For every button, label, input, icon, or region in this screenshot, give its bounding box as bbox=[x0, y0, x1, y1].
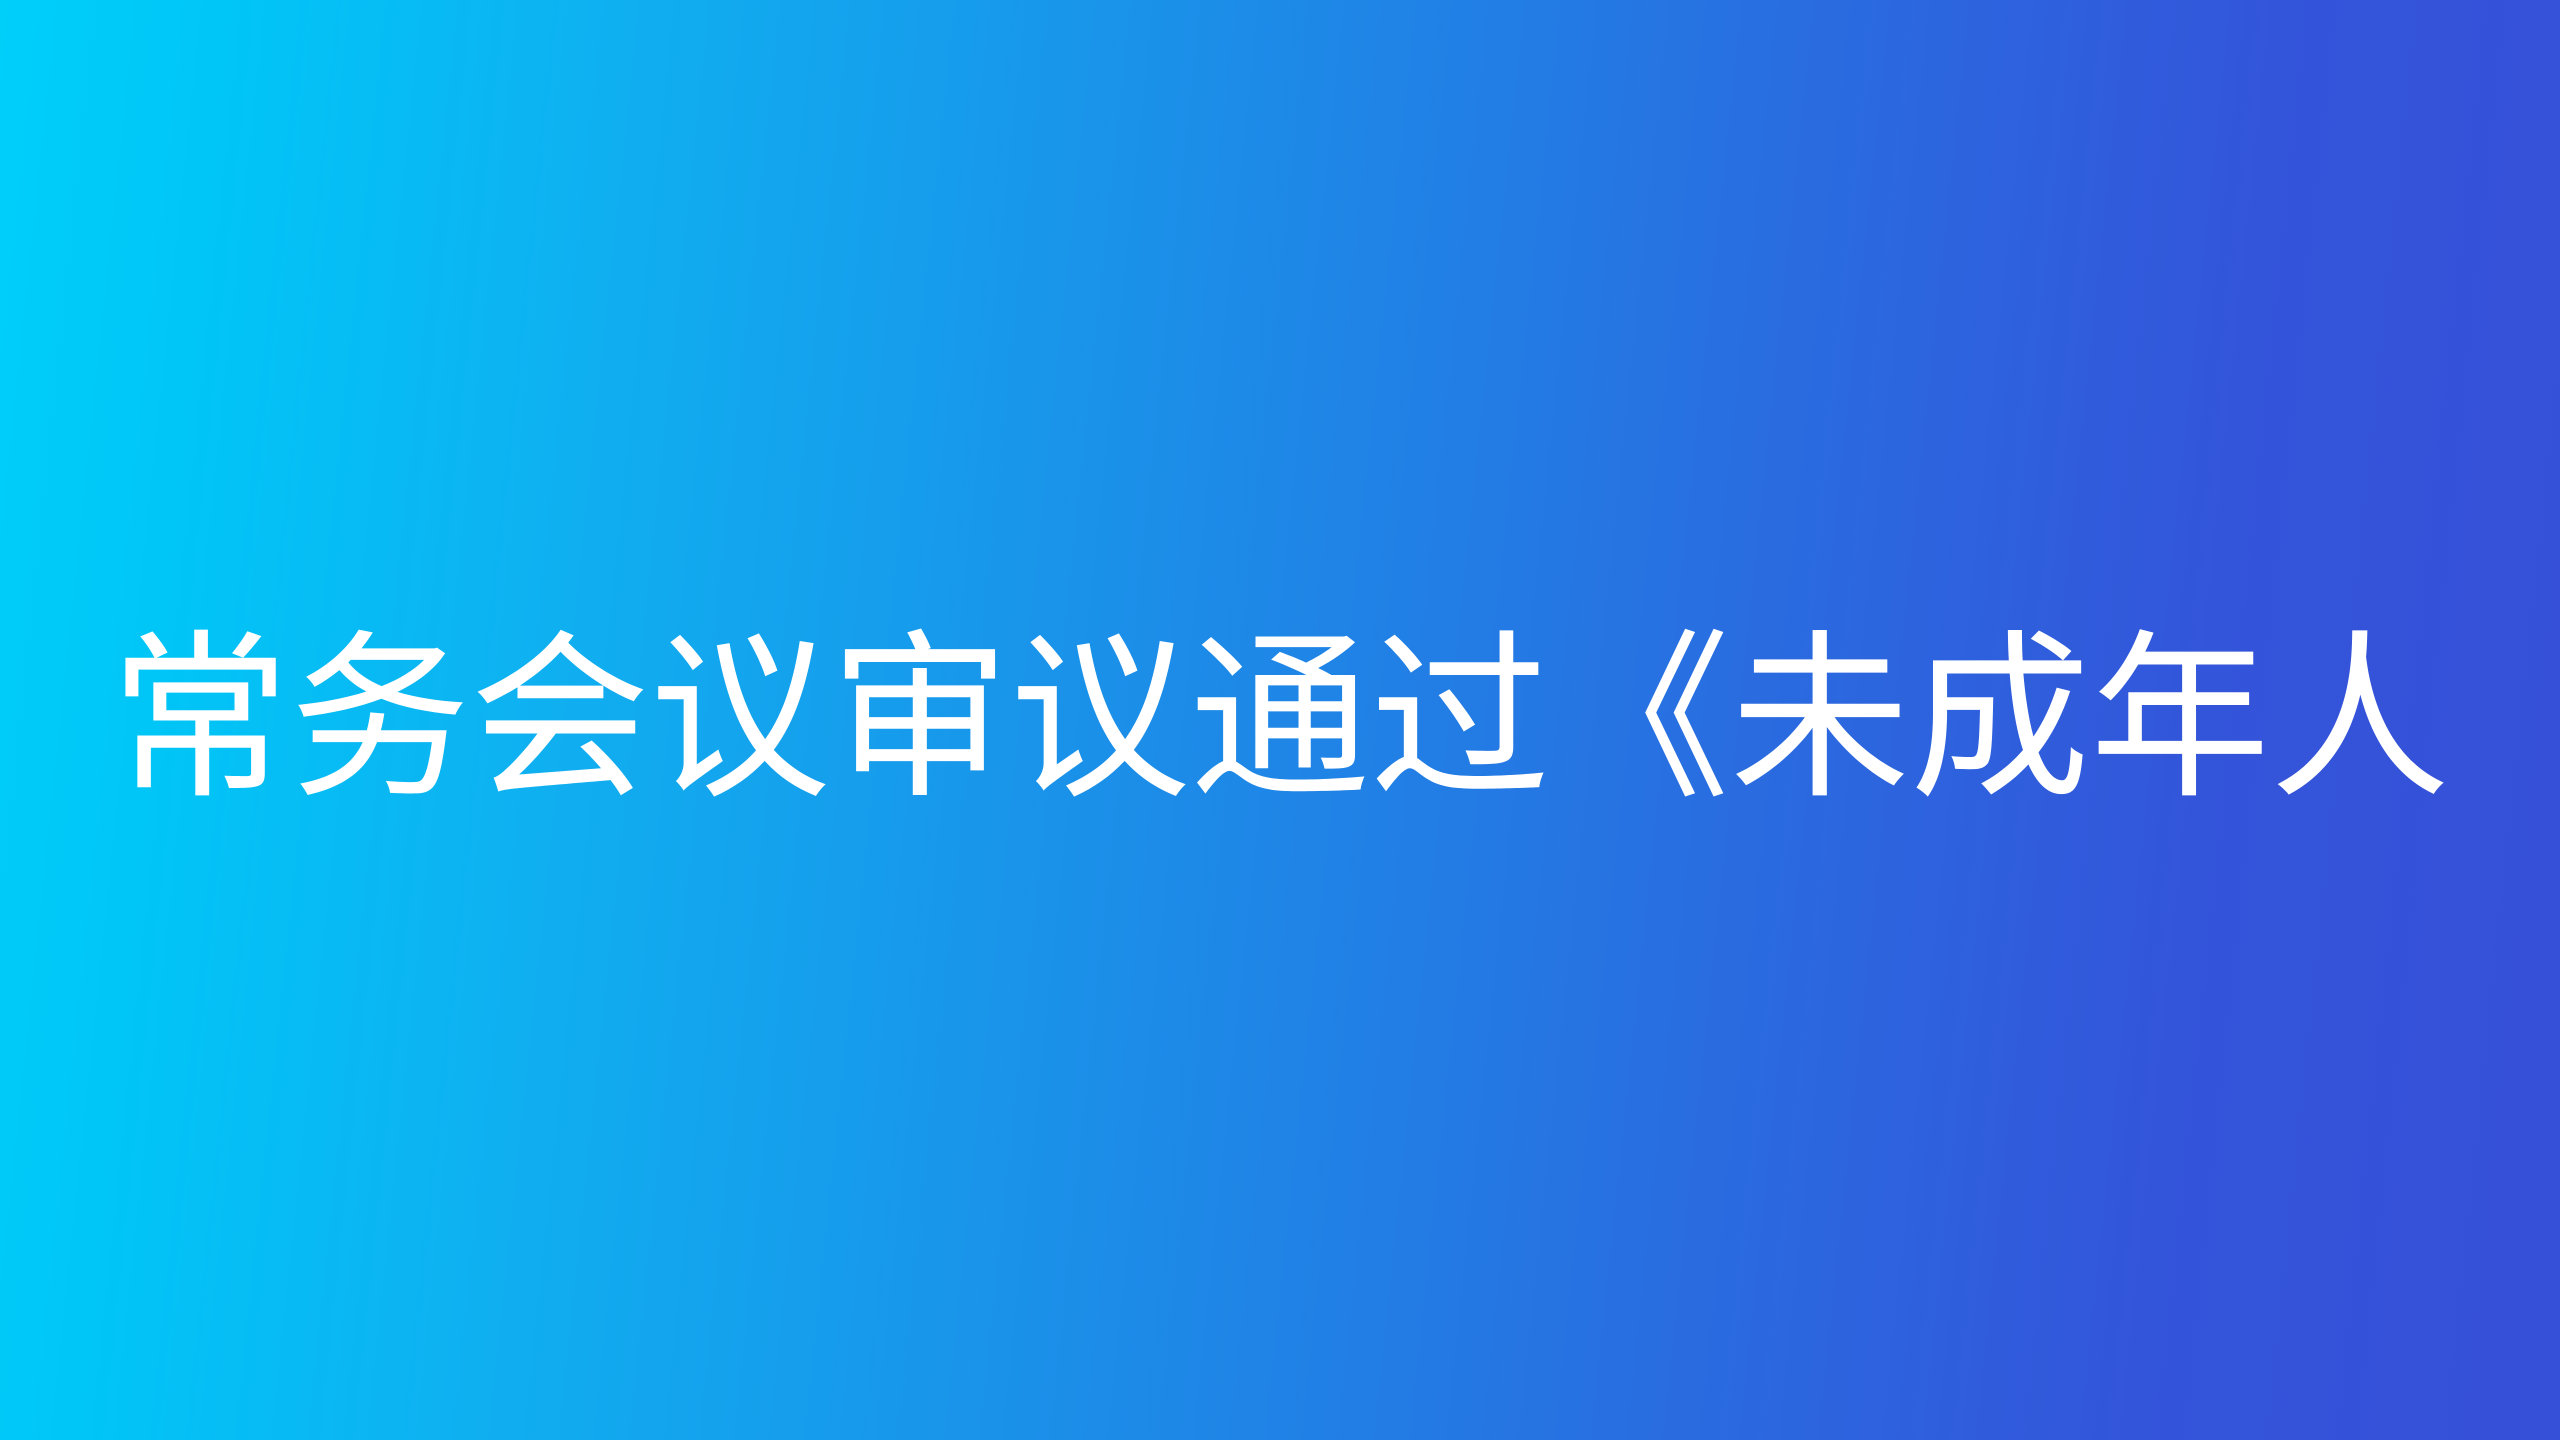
headline-line-3: 网络保护条例（草案）》 bbox=[30, 1408, 2530, 1440]
headline-text: 李强主持召开国务院 常务会议审议通过《未成年人 网络保护条例（草案）》 bbox=[30, 0, 2530, 1440]
headline-line-1: 李强主持召开国务院 bbox=[30, 0, 2530, 32]
poster-background: 李强主持召开国务院 常务会议审议通过《未成年人 网络保护条例（草案）》 bbox=[0, 0, 2560, 1440]
headline-line-2: 常务会议审议通过《未成年人 bbox=[30, 582, 2530, 857]
